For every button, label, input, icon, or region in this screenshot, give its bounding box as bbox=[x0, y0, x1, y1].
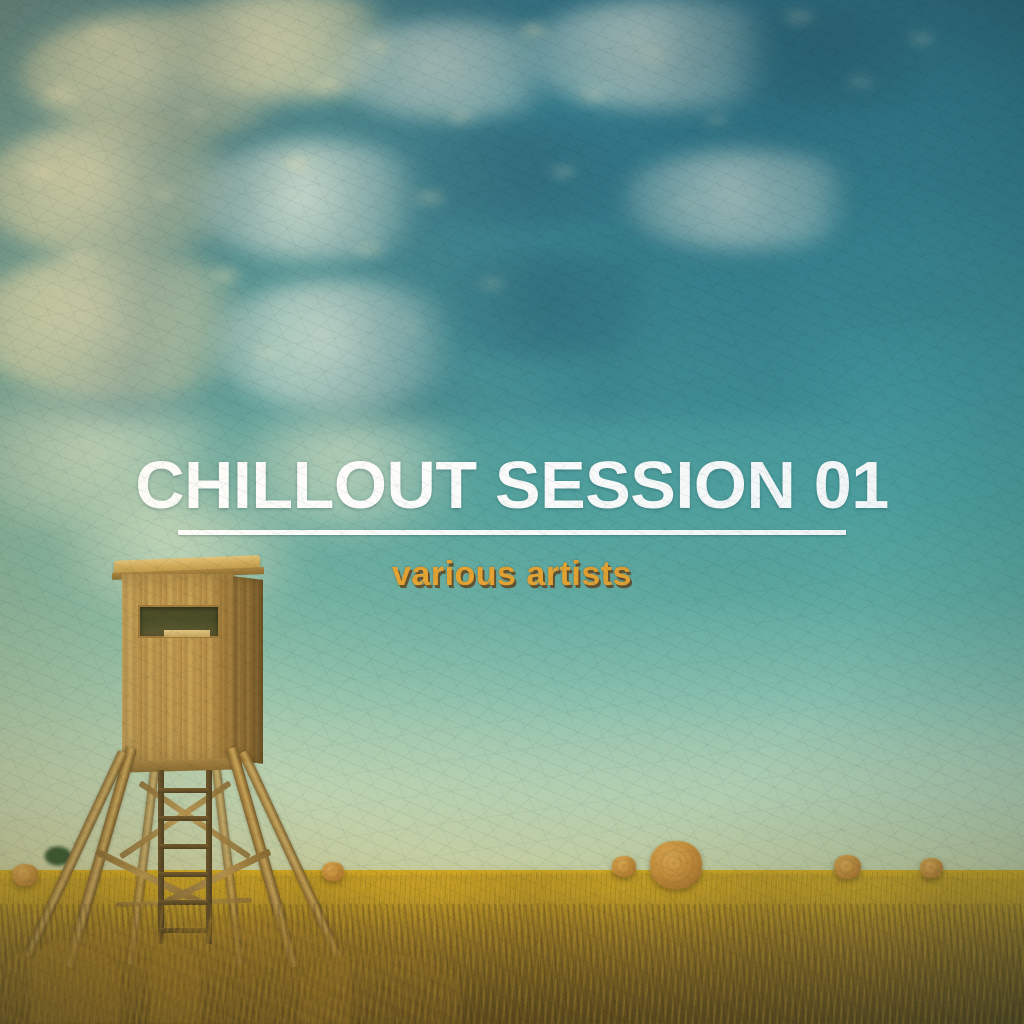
cloud-shadow-streaks bbox=[0, 0, 1024, 420]
tower-brace-diagonal-2 bbox=[162, 848, 271, 906]
hay-bale bbox=[834, 855, 861, 879]
album-title: CHILLOUT SESSION 01 bbox=[0, 452, 1024, 519]
hay-bale bbox=[650, 841, 702, 889]
grass-tuft bbox=[300, 954, 460, 1024]
tower-platform-floor bbox=[116, 758, 242, 773]
album-artist: various artists bbox=[0, 555, 1024, 594]
hay-bale bbox=[322, 862, 344, 881]
tower-cabin-front bbox=[122, 574, 234, 764]
album-cover: CHILLOUT SESSION 01 various artists bbox=[0, 0, 1024, 1024]
hay-bale bbox=[12, 864, 38, 886]
tower-window-sill bbox=[164, 630, 210, 637]
grass-tuft bbox=[0, 944, 120, 1024]
ladder-rung bbox=[158, 788, 208, 793]
tower-cabin-side bbox=[233, 576, 263, 764]
ladder-rung bbox=[158, 816, 208, 821]
hay-bale bbox=[612, 856, 636, 877]
hay-bale bbox=[920, 858, 943, 878]
ladder-rung bbox=[158, 844, 208, 849]
ladder-rung bbox=[158, 872, 208, 877]
tower-brace-diagonal-1 bbox=[94, 848, 203, 906]
title-underline-rule bbox=[178, 530, 846, 535]
title-block: CHILLOUT SESSION 01 various artists bbox=[0, 452, 1024, 594]
